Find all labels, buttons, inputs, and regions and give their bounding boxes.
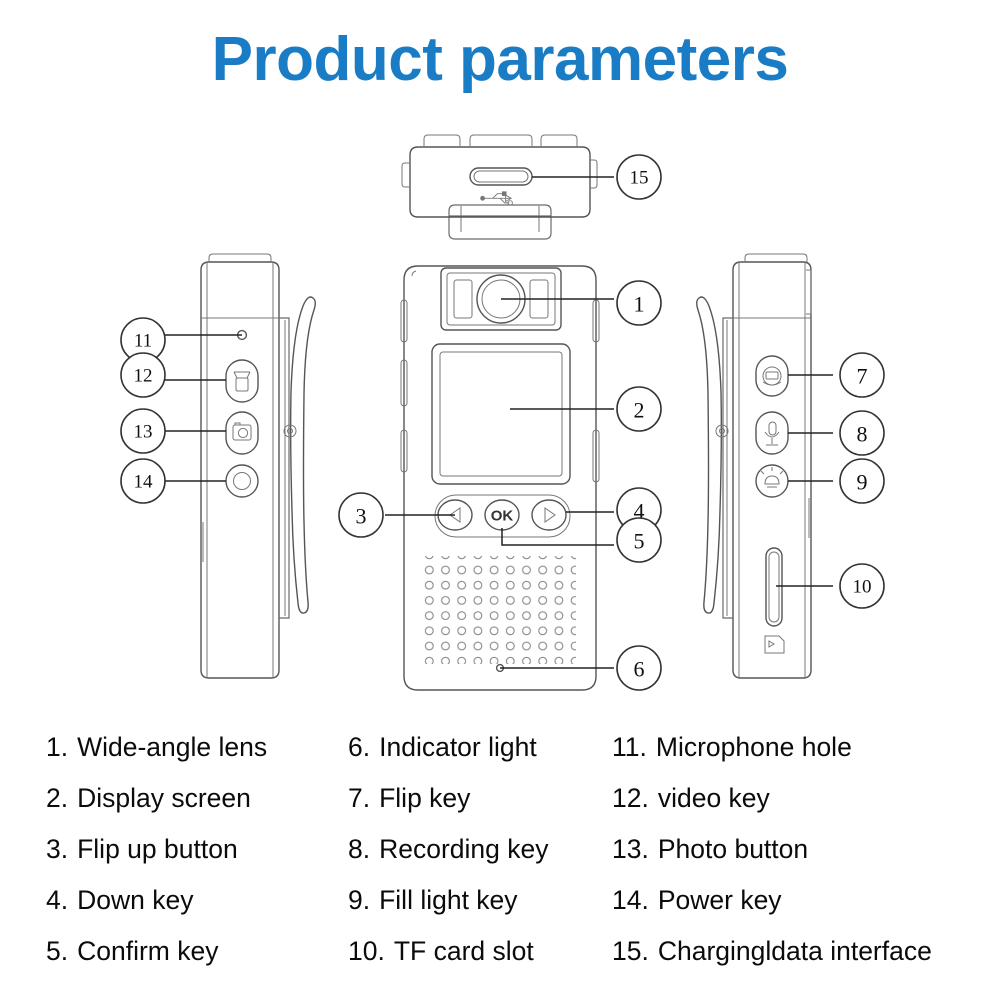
legend-label: Confirm key [77,926,218,977]
display-screen [432,344,570,484]
recording-key[interactable] [756,412,788,454]
legend-item-1: 1. Wide-angle lens [46,722,346,773]
camera-icon [233,423,251,440]
legend-item-13: 13. Photo button [612,824,992,875]
legend-item-3: 3. Flip up button [46,824,346,875]
microphone-icon [765,422,779,445]
lamp-icon [761,467,783,487]
svg-text:2: 2 [634,398,645,423]
rotate-icon [763,367,781,385]
legend-label: Wide-angle lens [77,722,267,773]
legend-item-9: 9. Fill light key [348,875,610,926]
confirm-key[interactable]: OK [485,500,519,530]
svg-text:1: 1 [634,292,645,317]
legend-number: 7. [348,773,370,824]
power-key[interactable] [226,465,258,497]
legend-column-2: 6. Indicator light 7. Flip key 8. Record… [348,722,610,977]
usb-icon [480,191,512,205]
legend-label: Recording key [379,824,548,875]
legend-label: Photo button [658,824,808,875]
speaker-grille [424,556,576,664]
legend-number: 1. [46,722,68,773]
callout-6: 6 [617,646,661,690]
legend-number: 14. [612,875,649,926]
legend-label: Indicator light [379,722,537,773]
legend-column-1: 1. Wide-angle lens 2. Display screen 3. … [46,722,346,977]
legend-column-3: 11. Microphone hole 12. video key 13. Ph… [612,722,992,977]
svg-text:14: 14 [134,472,154,493]
legend-item-5: 5. Confirm key [46,926,346,977]
legend-number: 15. [612,926,649,977]
legend-number: 8. [348,824,370,875]
legend-item-12: 12. video key [612,773,992,824]
svg-text:6: 6 [634,657,645,682]
svg-text:OK: OK [491,508,514,525]
fill-light-key[interactable] [756,465,788,497]
callout-3: 3 [339,493,383,537]
svg-text:7: 7 [857,364,868,389]
legend-label: Flip key [379,773,470,824]
callout-7: 7 [840,353,884,397]
legend-item-15: 15. Chargingldata interface [612,926,992,977]
svg-text:11: 11 [134,331,152,352]
legend-label: Microphone hole [656,722,852,773]
usb-c-port [470,168,532,185]
legend-label: Display screen [77,773,251,824]
legend-number: 4. [46,875,68,926]
legend-item-4: 4. Down key [46,875,346,926]
legend-number: 12. [612,773,649,824]
legend-label: Power key [658,875,782,926]
callout-13: 13 [121,409,165,453]
legend-item-7: 7. Flip key [348,773,610,824]
legend-item-14: 14. Power key [612,875,992,926]
svg-text:5: 5 [634,529,645,554]
callout-12: 12 [121,353,165,397]
legend-label: video key [658,773,770,824]
sd-card-icon [765,636,784,653]
legend-number: 3. [46,824,68,875]
svg-text:9: 9 [857,470,868,495]
top-view: 15 [402,135,661,239]
legend-label: Flip up button [77,824,238,875]
legend-number: 9. [348,875,370,926]
legend-number: 10. [348,926,385,977]
callout-8: 8 [840,411,884,455]
legend-number: 6. [348,722,370,773]
legend-item-6: 6. Indicator light [348,722,610,773]
svg-text:15: 15 [630,168,649,189]
legend-number: 13. [612,824,649,875]
down-key[interactable] [532,500,566,530]
video-key[interactable] [226,360,258,402]
svg-text:3: 3 [356,504,367,529]
callout-15: 15 [617,155,661,199]
legend-number: 5. [46,926,68,977]
flip-key[interactable] [756,356,788,396]
legend-item-10: 10. TF card slot [348,926,610,977]
front-view: 1 2 [339,266,661,690]
svg-text:10: 10 [853,577,872,598]
callout-9: 9 [840,459,884,503]
callout-14: 14 [121,459,165,503]
legend-item-2: 2. Display screen [46,773,346,824]
callout-10: 10 [840,564,884,608]
legend-label: TF card slot [394,926,534,977]
callout-5: 5 [617,518,661,562]
photo-button[interactable] [226,412,258,454]
camcorder-icon [234,372,250,391]
legend-label: Down key [77,875,193,926]
right-side-view: 7 8 [697,254,884,678]
callout-1: 1 [617,281,661,325]
legend-number: 11. [612,722,647,773]
left-side-view: 11 12 [121,254,315,678]
legend-item-11: 11. Microphone hole [612,722,992,773]
legend-item-8: 8. Recording key [348,824,610,875]
legend-label: Chargingldata interface [658,926,932,977]
callout-2: 2 [617,387,661,431]
product-parameters-page: Product parameters .ln{fill:none;stroke:… [0,0,1000,1000]
svg-text:12: 12 [134,366,153,387]
svg-text:13: 13 [134,422,153,443]
parts-legend: 1. Wide-angle lens 2. Display screen 3. … [0,722,1000,1000]
legend-number: 2. [46,773,68,824]
product-diagram: .ln{fill:none;stroke:#555;stroke-width:1… [0,0,1000,720]
svg-text:8: 8 [857,422,868,447]
legend-label: Fill light key [379,875,517,926]
tf-card-slot[interactable] [766,548,782,626]
